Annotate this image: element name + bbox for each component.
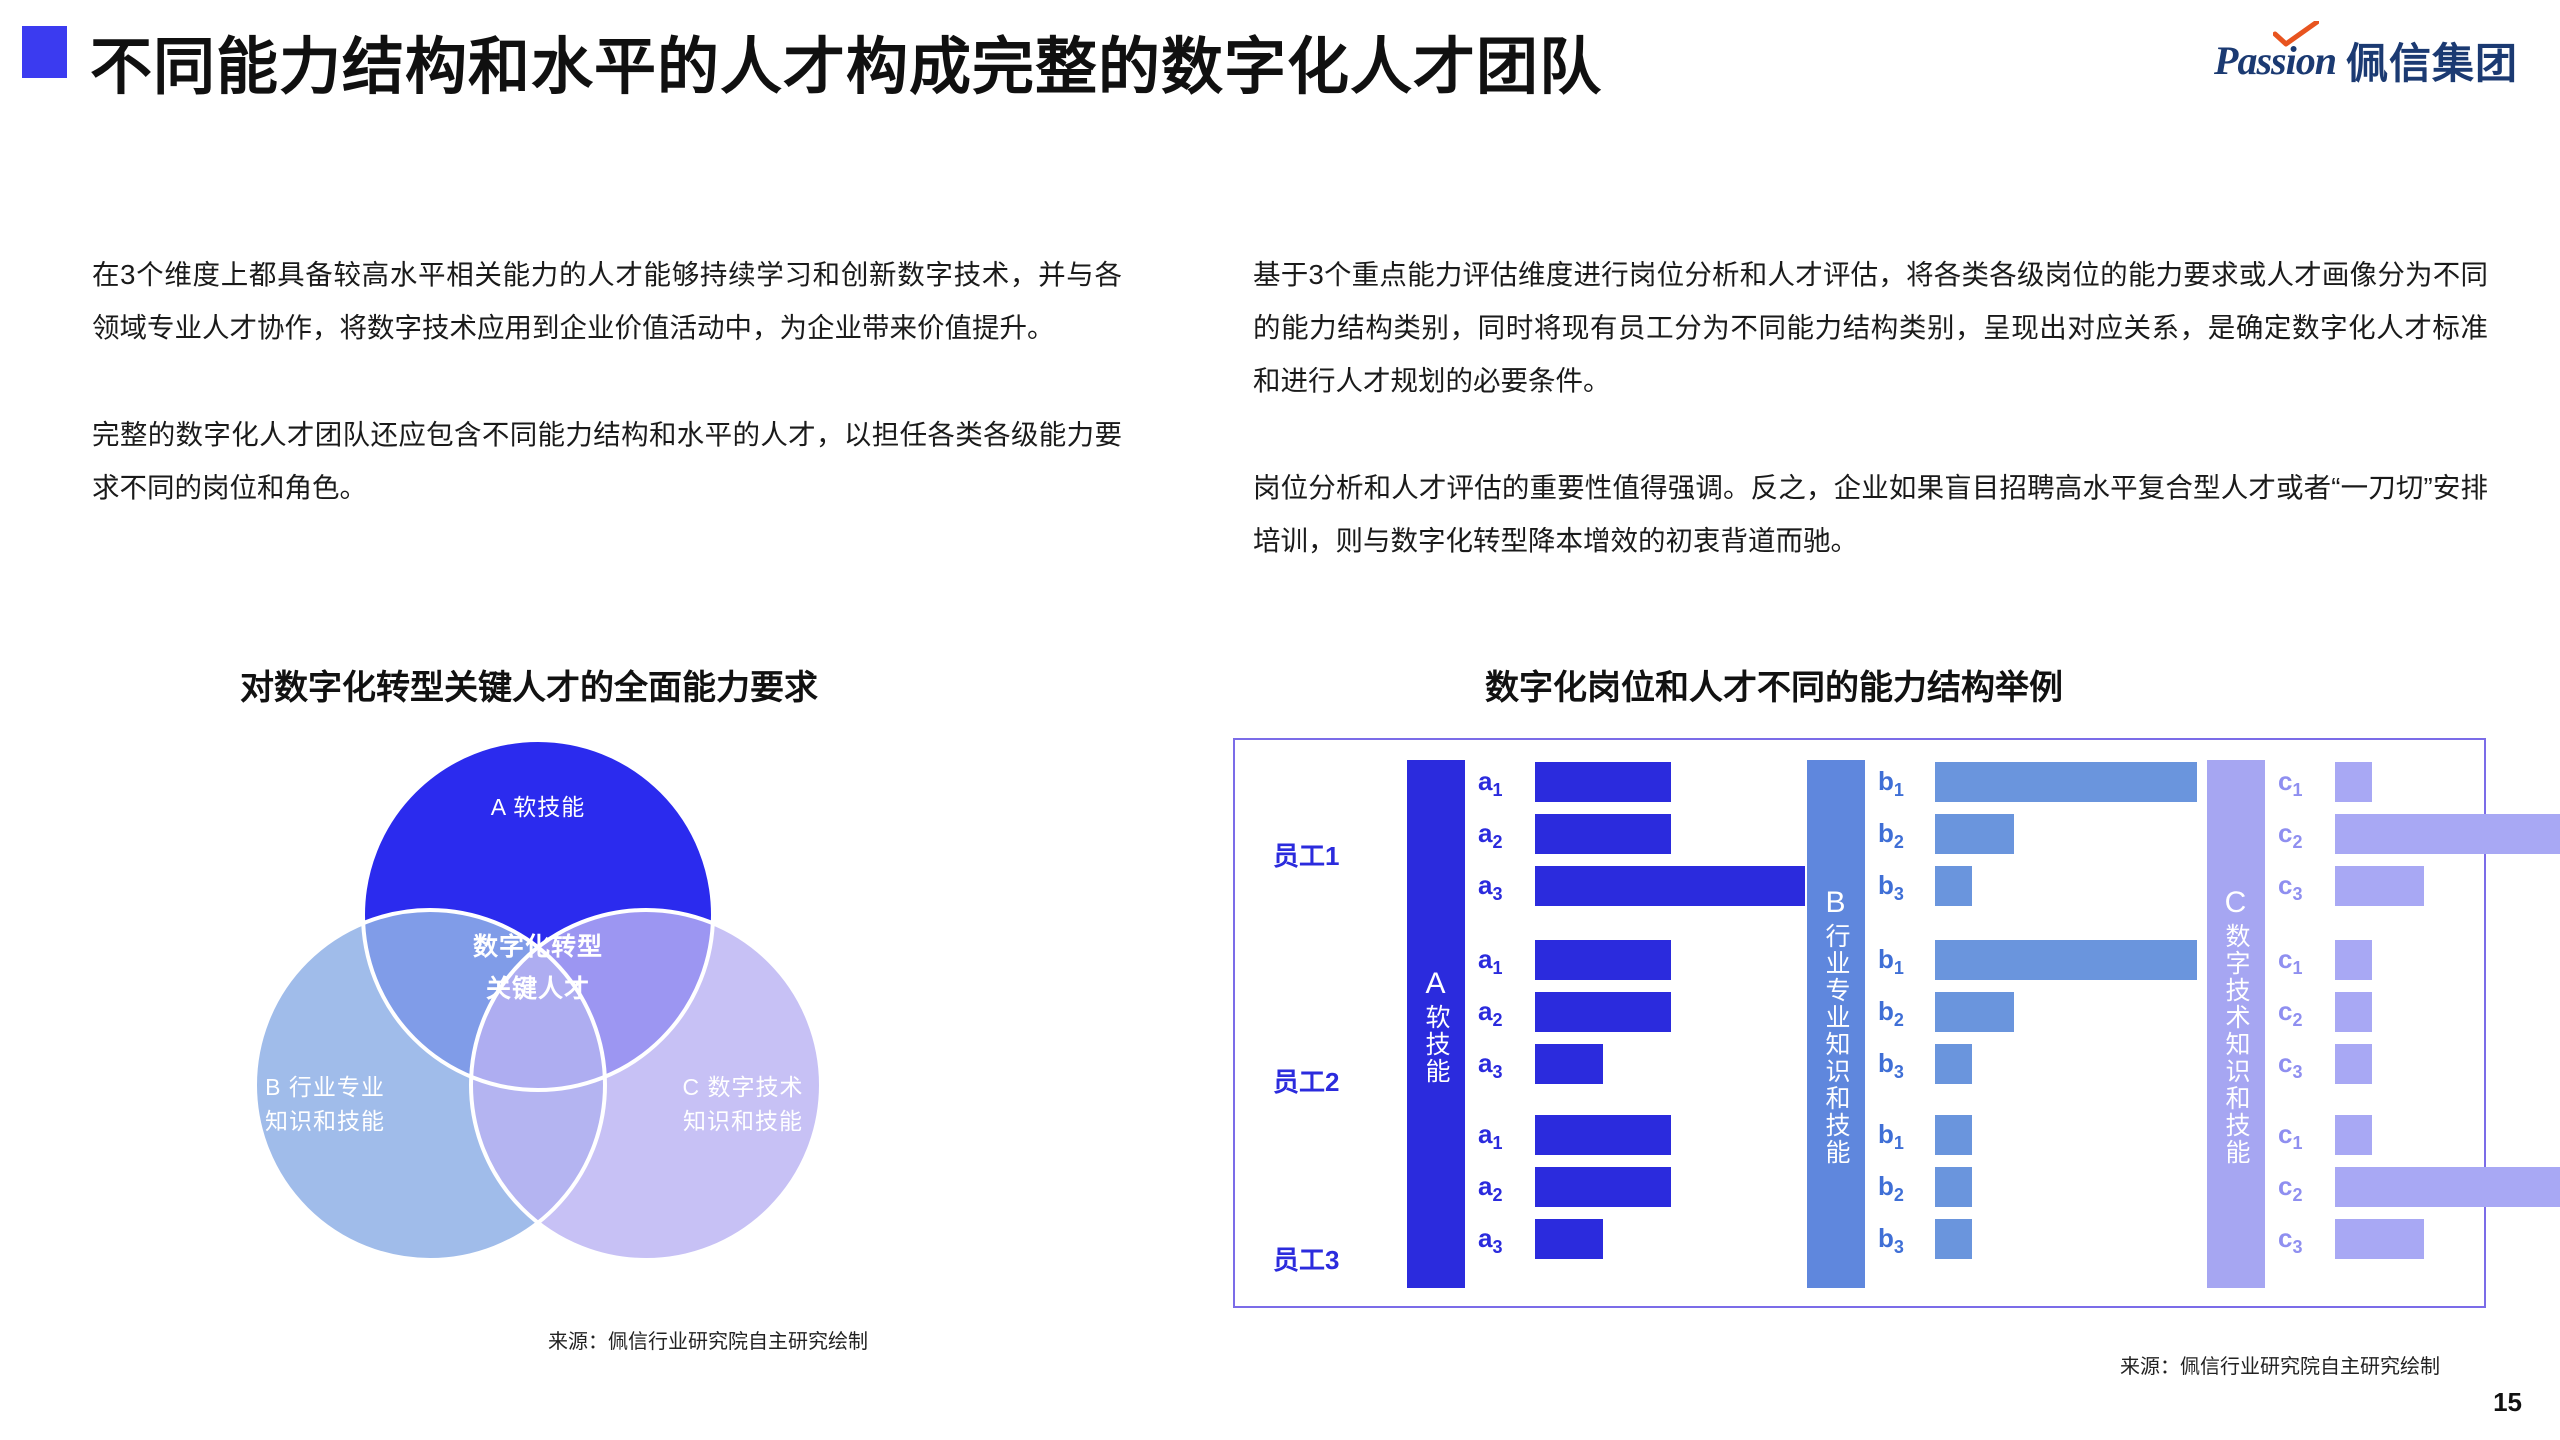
bar-label-a2-3: a2 — [1478, 1171, 1502, 1206]
bar-label-a1-1: a1 — [1478, 766, 1502, 801]
right-text-column: 基于3个重点能力评估维度进行岗位分析和人才评估，将各类各级岗位的能力要求或人才画… — [1253, 248, 2488, 621]
bar-label-a2-1: a2 — [1478, 818, 1502, 853]
bar-b1-2 — [1935, 940, 2197, 980]
bar-b3-2 — [1935, 1044, 1972, 1084]
venn-source-caption: 来源：佩信行业研究院自主研究绘制 — [548, 1325, 868, 1354]
bar-label-b1-3: b1 — [1878, 1119, 1904, 1154]
bar-label-c3-2: c3 — [2278, 1048, 2302, 1083]
bar-label-c2-3: c2 — [2278, 1171, 2302, 1206]
bar-c2-2 — [2335, 992, 2372, 1032]
page-title: 不同能力结构和水平的人才构成完整的数字化人才团队 — [90, 16, 1602, 106]
bar-c1-1 — [2335, 762, 2372, 802]
venn-label-b-line1: B 行业专业 — [210, 1070, 440, 1104]
bar-label-a1-2: a1 — [1478, 944, 1502, 979]
bar-label-c1-2: c1 — [2278, 944, 2302, 979]
bar-b3-3 — [1935, 1219, 1972, 1259]
bar-label-a3-2: a3 — [1478, 1048, 1502, 1083]
bar-label-c3-1: c3 — [2278, 870, 2302, 905]
bar-label-a3-3: a3 — [1478, 1223, 1502, 1258]
bar-label-a1-3: a1 — [1478, 1119, 1502, 1154]
bar-a1-1 — [1535, 762, 1671, 802]
bar-c1-3 — [2335, 1115, 2372, 1155]
venn-label-c: C 数字技术 知识和技能 — [628, 1070, 858, 1138]
bar-c1-2 — [2335, 940, 2372, 980]
slide-root: 不同能力结构和水平的人才构成完整的数字化人才团队 Passion 佩信集团 在3… — [0, 0, 2560, 1440]
bar-label-c2-2: c2 — [2278, 996, 2302, 1031]
employee-label-3: 员工3 — [1273, 1240, 1339, 1277]
dimension-block-c: C数字技术知识和技能 — [2207, 760, 2265, 1288]
logo-cn-label: 佩信集团 — [2346, 30, 2518, 91]
bar-b1-3 — [1935, 1115, 1972, 1155]
bar-a1-3 — [1535, 1115, 1671, 1155]
venn-label-c-line2: 知识和技能 — [628, 1104, 858, 1138]
chart-source-caption: 来源：佩信行业研究院自主研究绘制 — [2120, 1350, 2440, 1379]
bar-c2-1 — [2335, 814, 2560, 854]
right-paragraph-1: 基于3个重点能力评估维度进行岗位分析和人才评估，将各类各级岗位的能力要求或人才画… — [1253, 248, 2488, 407]
logo-latin-text: Passion — [2214, 37, 2336, 84]
employee-label-1: 员工1 — [1273, 836, 1339, 873]
bar-c3-3 — [2335, 1219, 2424, 1259]
page-number: 15 — [2493, 1387, 2522, 1418]
bar-label-b2-3: b2 — [1878, 1171, 1904, 1206]
venn-label-c-line1: C 数字技术 — [628, 1070, 858, 1104]
bar-label-b2-1: b2 — [1878, 818, 1904, 853]
bar-a3-3 — [1535, 1219, 1603, 1259]
bar-a3-2 — [1535, 1044, 1603, 1084]
dimension-name-b: 行业专业知识和技能 — [1818, 923, 1854, 1166]
venn-label-b-line2: 知识和技能 — [210, 1104, 440, 1138]
dimension-name-a: 软技能 — [1418, 1004, 1454, 1085]
bar-label-c1-1: c1 — [2278, 766, 2302, 801]
bar-c3-1 — [2335, 866, 2424, 906]
venn-label-b: B 行业专业 知识和技能 — [210, 1070, 440, 1138]
venn-label-a: A 软技能 — [428, 790, 648, 824]
venn-center-line1: 数字化转型 — [408, 926, 668, 968]
bar-label-b2-2: b2 — [1878, 996, 1904, 1031]
bar-label-b1-1: b1 — [1878, 766, 1904, 801]
venn-center-line2: 关键人才 — [408, 968, 668, 1010]
dimension-letter-a: A — [1425, 964, 1446, 1004]
bar-label-b3-3: b3 — [1878, 1223, 1904, 1258]
bar-label-a3-1: a3 — [1478, 870, 1502, 905]
employee-label-2: 员工2 — [1273, 1062, 1339, 1099]
bar-a3-1 — [1535, 866, 1805, 906]
bar-label-b3-1: b3 — [1878, 870, 1904, 905]
chart-section-title: 数字化岗位和人才不同的能力结构举例 — [1485, 660, 2063, 709]
venn-section-title: 对数字化转型关键人才的全面能力要求 — [240, 660, 818, 709]
bar-a2-2 — [1535, 992, 1671, 1032]
bar-a2-3 — [1535, 1167, 1671, 1207]
bar-b2-1 — [1935, 814, 2014, 854]
check-icon — [2273, 21, 2319, 47]
bar-b2-3 — [1935, 1167, 1972, 1207]
bar-b2-2 — [1935, 992, 2014, 1032]
left-paragraph-1: 在3个维度上都具备较高水平相关能力的人才能够持续学习和创新数字技术，并与各领域专… — [92, 248, 1122, 354]
dimension-block-b: B行业专业知识和技能 — [1807, 760, 1865, 1288]
bar-b1-1 — [1935, 762, 2197, 802]
bar-label-a2-2: a2 — [1478, 996, 1502, 1031]
bar-label-c1-3: c1 — [2278, 1119, 2302, 1154]
capability-structure-chart: A软技能a1a2a3a1a2a3a1a2a3B行业专业知识和技能b1b2b3b1… — [1233, 738, 2486, 1308]
left-paragraph-2: 完整的数字化人才团队还应包含不同能力结构和水平的人才，以担任各类各级能力要求不同… — [92, 408, 1122, 514]
bar-label-b1-2: b1 — [1878, 944, 1904, 979]
bar-label-c3-3: c3 — [2278, 1223, 2302, 1258]
bar-a2-1 — [1535, 814, 1671, 854]
bar-c3-2 — [2335, 1044, 2372, 1084]
dimension-block-a: A软技能 — [1407, 760, 1465, 1288]
bar-b3-1 — [1935, 866, 1972, 906]
bar-a1-2 — [1535, 940, 1671, 980]
venn-diagram: A 软技能 B 行业专业 知识和技能 C 数字技术 知识和技能 数字化转型 关键… — [178, 740, 898, 1300]
bar-label-b3-2: b3 — [1878, 1048, 1904, 1083]
venn-label-center: 数字化转型 关键人才 — [408, 926, 668, 1010]
company-logo: Passion 佩信集团 — [2214, 30, 2518, 91]
dimension-letter-c: C — [2225, 883, 2248, 923]
dimension-name-c: 数字技术知识和技能 — [2218, 923, 2254, 1166]
right-paragraph-2: 岗位分析和人才评估的重要性值得强调。反之，企业如果盲目招聘高水平复合型人才或者“… — [1253, 461, 2488, 567]
left-text-column: 在3个维度上都具备较高水平相关能力的人才能够持续学习和创新数字技术，并与各领域专… — [92, 248, 1122, 568]
dimension-letter-b: B — [1825, 883, 1846, 923]
venn-svg — [178, 740, 898, 1300]
title-bullet-marker — [22, 26, 67, 78]
bar-label-c2-1: c2 — [2278, 818, 2302, 853]
bar-c2-3 — [2335, 1167, 2560, 1207]
